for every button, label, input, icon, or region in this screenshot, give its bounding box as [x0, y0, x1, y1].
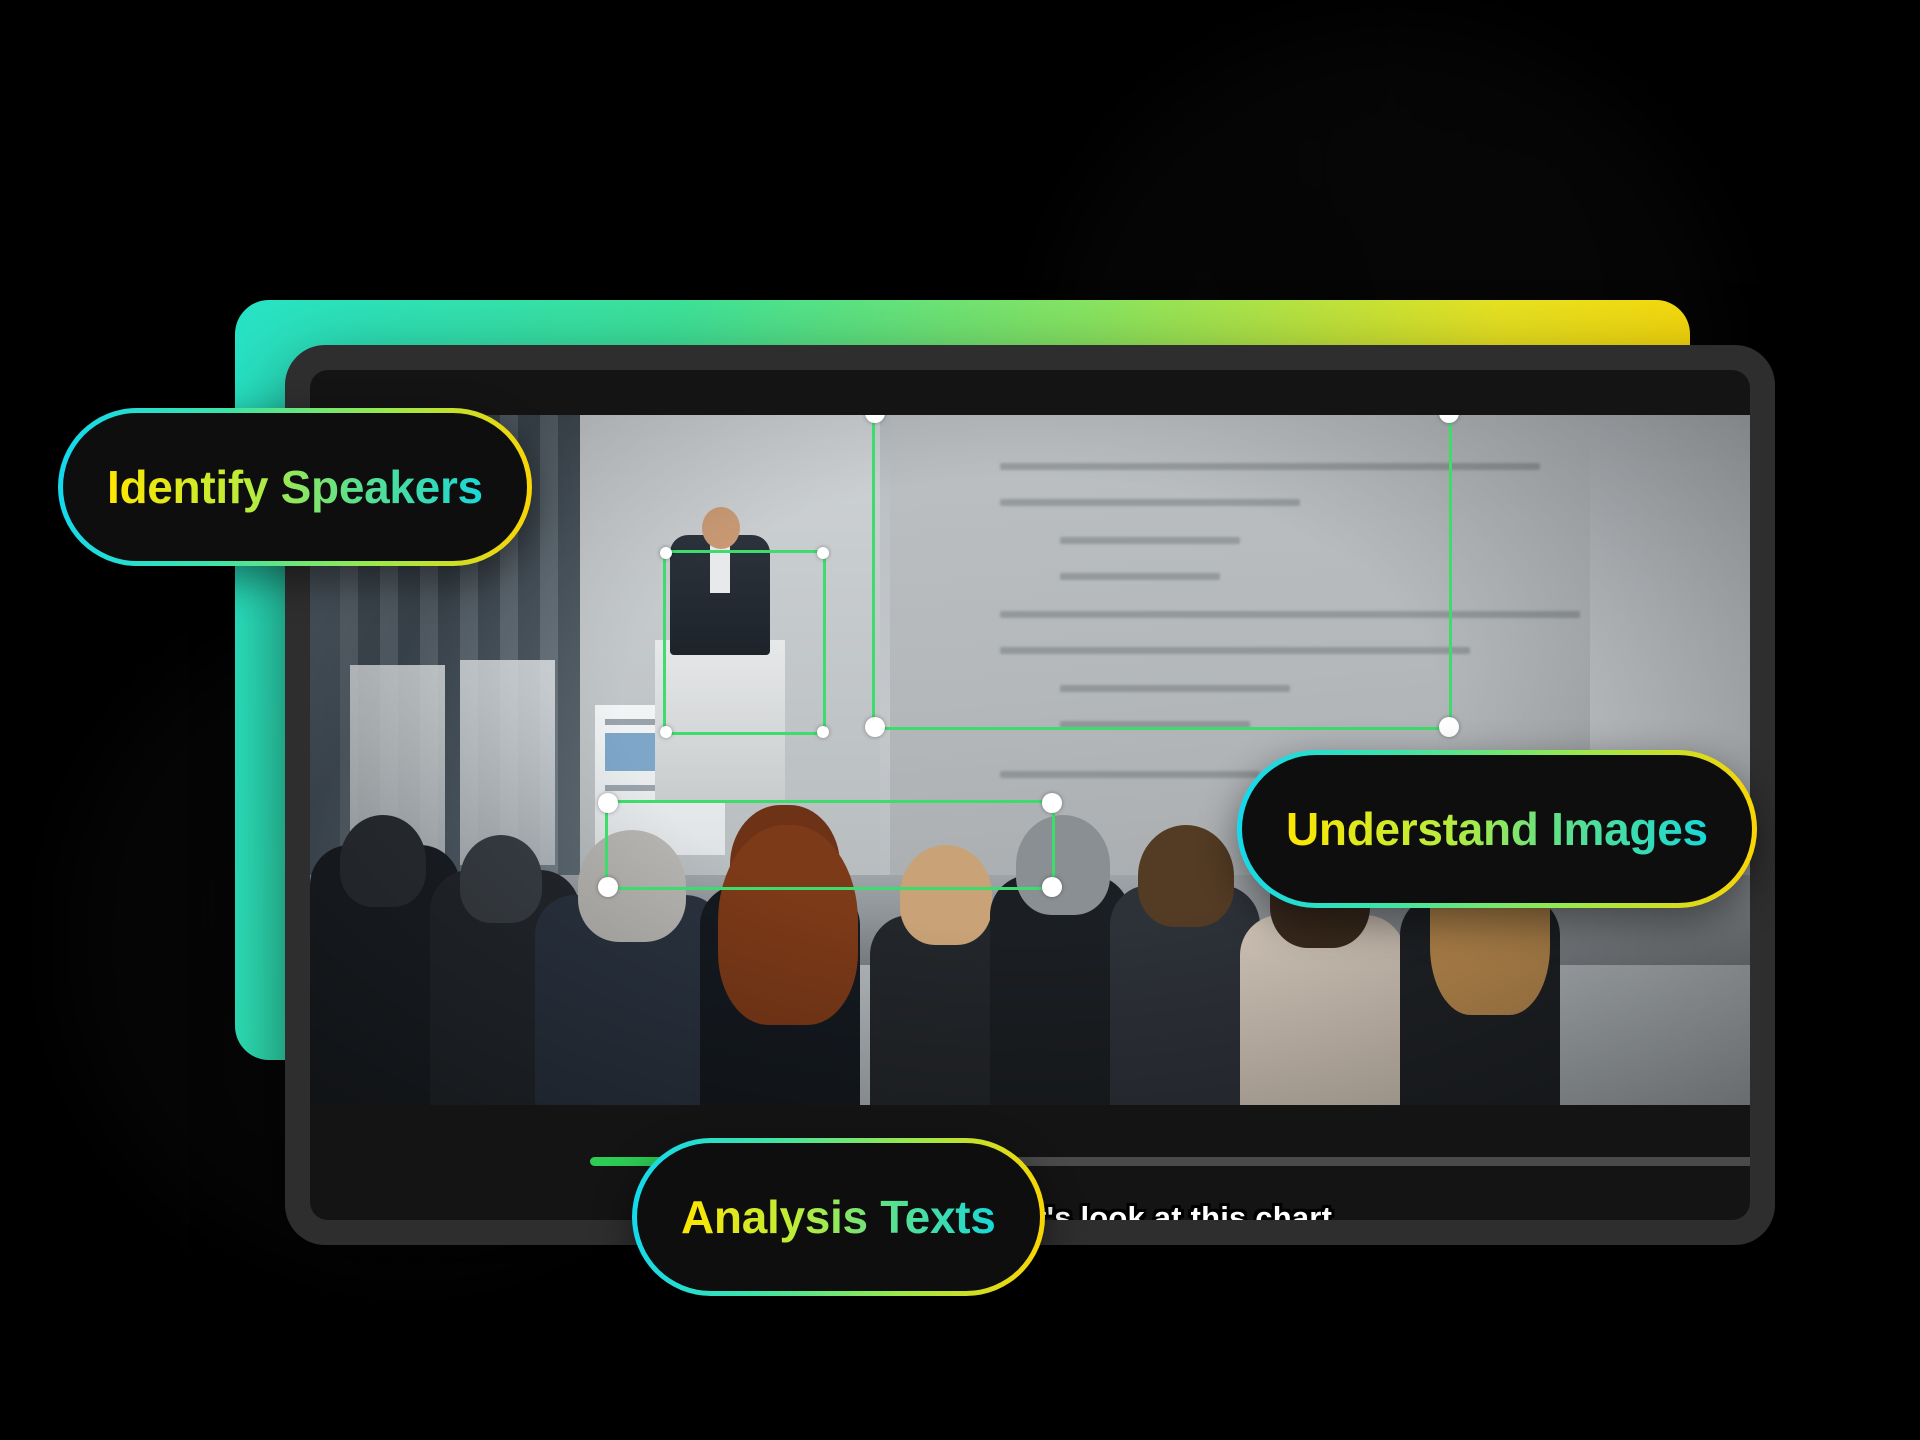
badge-analysis-texts-label: Analysis Texts — [681, 1190, 996, 1244]
detection-box-speaker[interactable] — [663, 550, 826, 735]
screenshot-stage: Now let's look at this chart Identify Sp… — [0, 0, 1920, 1440]
badge-identify-speakers-label: Identify Speakers — [107, 460, 483, 514]
detection-box-slide[interactable] — [872, 415, 1452, 730]
badge-analysis-texts[interactable]: Analysis Texts — [632, 1138, 1045, 1296]
detection-box-caption[interactable] — [605, 800, 1055, 890]
badge-identify-speakers[interactable]: Identify Speakers — [58, 408, 532, 566]
badge-identify-speakers-inner: Identify Speakers — [63, 413, 527, 561]
badge-analysis-texts-inner: Analysis Texts — [637, 1143, 1040, 1291]
badge-understand-images[interactable]: Understand Images — [1237, 750, 1757, 908]
badge-understand-images-label: Understand Images — [1286, 802, 1708, 856]
badge-understand-images-inner: Understand Images — [1242, 755, 1752, 903]
